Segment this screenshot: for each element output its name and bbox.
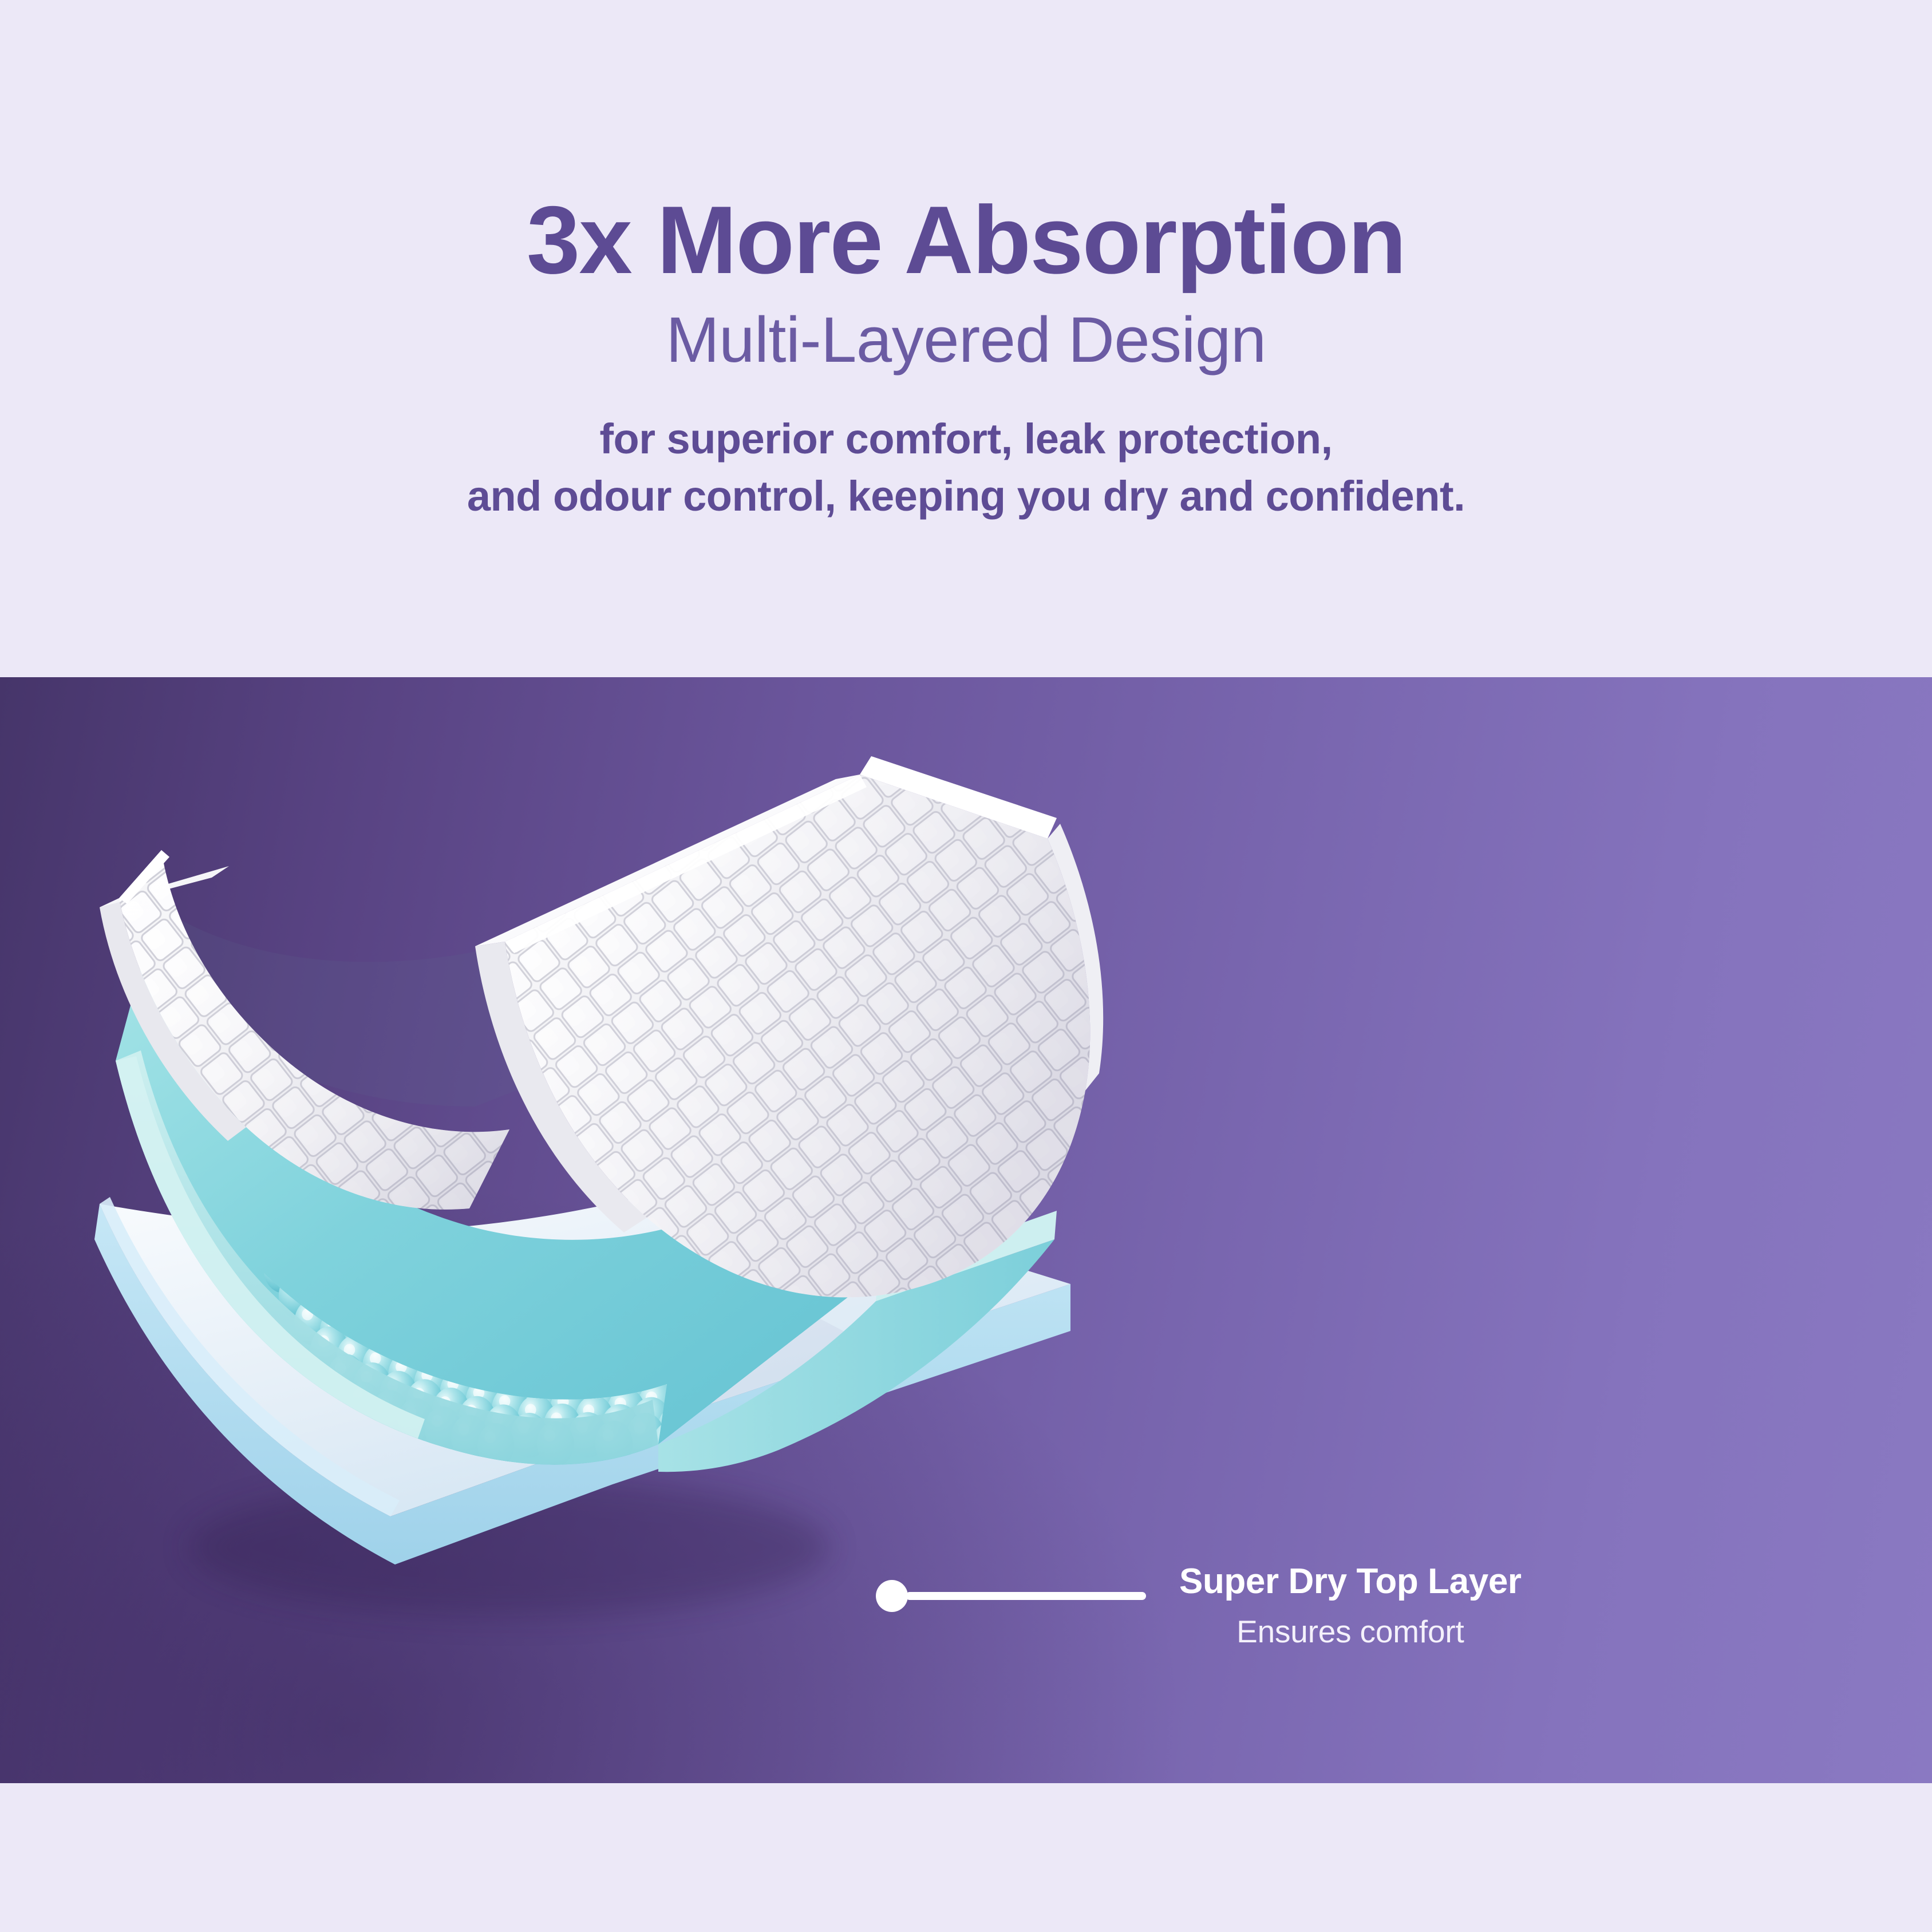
leader-dot-top-layer bbox=[876, 1580, 908, 1612]
callout-subtitle-top-layer: Ensures comfort bbox=[1179, 1613, 1522, 1650]
diagram-panel: Super Dry Top Layer Ensures comfort Ultr… bbox=[0, 677, 1932, 1783]
tagline-line-2: and odour control, keeping you dry and c… bbox=[467, 468, 1465, 525]
tagline-line-1: for superior comfort, leak protection, bbox=[467, 410, 1465, 468]
callout-top-layer: Super Dry Top Layer Ensures comfort bbox=[1179, 1562, 1522, 1650]
leader-stroke-top-layer bbox=[906, 1592, 1146, 1600]
footer-band bbox=[0, 1783, 1932, 1932]
page-title: 3x More Absorption bbox=[527, 189, 1405, 291]
page-subtitle: Multi-Layered Design bbox=[666, 305, 1266, 375]
tagline: for superior comfort, leak protection, a… bbox=[467, 410, 1465, 525]
callout-title-top-layer: Super Dry Top Layer bbox=[1179, 1562, 1522, 1602]
leader-line-top-layer bbox=[876, 1579, 1162, 1613]
header-section: 3x More Absorption Multi-Layered Design … bbox=[0, 0, 1932, 677]
product-illustration bbox=[74, 677, 1133, 1713]
